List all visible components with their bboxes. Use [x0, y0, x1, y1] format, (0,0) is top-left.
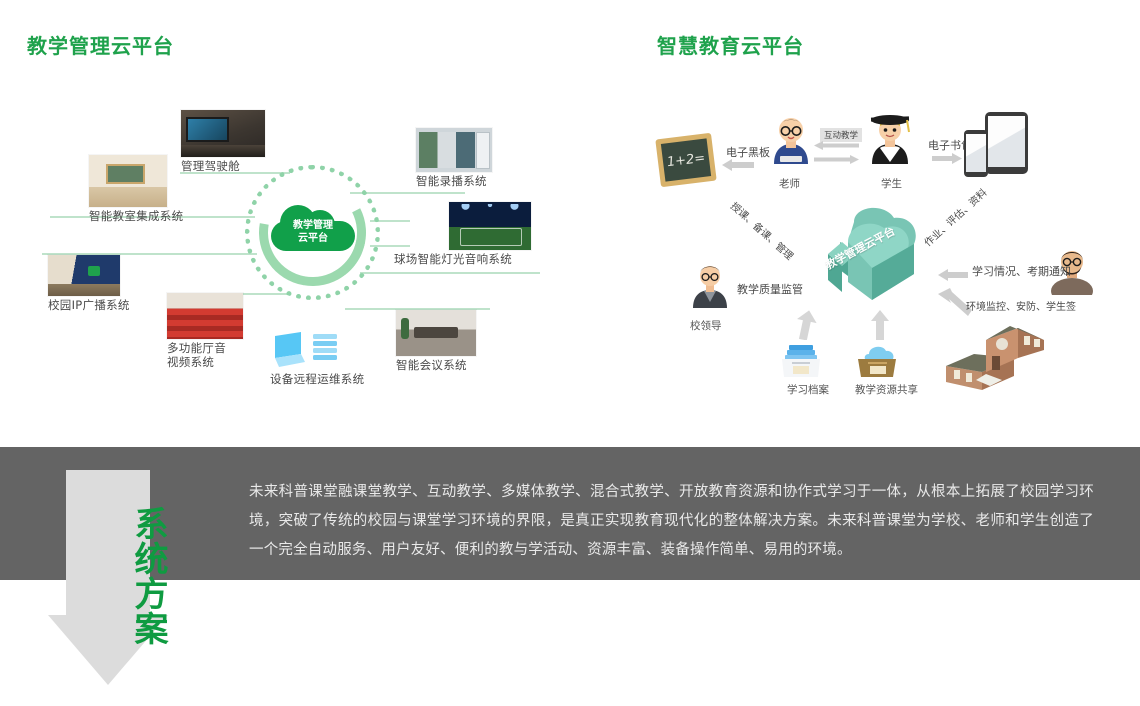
node-label-meeting: 智能会议系统 [396, 358, 476, 372]
smart-classroom-photo [89, 155, 167, 207]
teaching-resource-share-icon [855, 342, 899, 382]
stadium-lighting-photo [449, 202, 531, 250]
flow-label-study-notice: 学习情况、考期通知 [972, 263, 1071, 279]
actor-label-student: 学生 [881, 176, 902, 191]
node-label-cockpit: 管理驾驶舱 [181, 159, 265, 173]
arrow-to-devices-icon [932, 152, 962, 165]
teacher-avatar [768, 112, 814, 164]
student-avatar [866, 108, 914, 164]
node-stadium-lighting[interactable]: 球场智能灯光音响系统 [449, 202, 531, 266]
node-label-remote: 设备远程运维系统 [270, 372, 364, 386]
arrow-to-blackboard-icon [722, 158, 754, 172]
electronic-blackboard-icon: 1+2= [655, 133, 716, 187]
node-management-cockpit[interactable]: 管理驾驶舱 [181, 110, 265, 173]
flow-label-quality: 教学质量监管 [737, 281, 803, 297]
asset-label-archive: 学习档案 [787, 382, 829, 397]
remote-maintenance-icon [271, 330, 343, 370]
flow-label-homework: 作业、评估、资料 [920, 184, 989, 249]
asset-label-resource: 教学资源共享 [855, 382, 918, 397]
summary-paragraph: 未来科普课堂融课堂教学、互动教学、多媒体教学、混合式教学、开放教育资源和协作式学… [249, 478, 1094, 565]
arrow-label: 系统方案 [48, 486, 168, 666]
actor-label-teacher: 老师 [779, 176, 800, 191]
school-building-icon [940, 310, 1050, 390]
phone-device-icon [964, 130, 988, 177]
page-title-right: 智慧教育云平台 [657, 30, 804, 59]
tablet-device-icon [985, 112, 1028, 174]
hub-label-line2: 云平台 [298, 232, 328, 246]
smart-recording-photo [416, 128, 492, 172]
hub-label-line1: 教学管理 [293, 219, 333, 233]
central-hub-teaching-cloud: 教学管理 云平台 [245, 165, 380, 300]
system-solution-arrow: 系统方案 [48, 470, 168, 685]
node-smart-recording[interactable]: 智能录播系统 [416, 128, 492, 188]
multifunction-hall-photo [167, 293, 243, 339]
arrow-archive-up-icon [795, 310, 817, 340]
hub-cloud-shape: 教学管理 云平台 [271, 205, 355, 251]
learning-archive-icon [780, 342, 822, 382]
smart-meeting-photo [396, 310, 476, 356]
flow-label-teach-manage: 授课、备课、管理 [728, 198, 797, 263]
arrow-student-to-teacher-icon [814, 140, 859, 151]
node-label-recording: 智能录播系统 [416, 174, 492, 188]
node-remote-maintenance[interactable]: 设备远程运维系统 [271, 330, 364, 386]
connector-stadium-c [360, 272, 540, 274]
node-label-stadium: 球场智能灯光音响系统 [394, 252, 531, 266]
page-title-left: 教学管理云平台 [27, 30, 174, 59]
arrow-teacher-to-student-icon [814, 154, 859, 165]
node-label-classroom: 智能教室集成系统 [89, 209, 183, 223]
arrow-study-status-icon [938, 268, 968, 282]
cloud-platform-3d-icon: 教学管理云平台 [812, 196, 930, 314]
node-campus-broadcast[interactable]: 校园IP广播系统 [48, 255, 130, 312]
management-cockpit-photo [181, 110, 265, 157]
node-label-broadcast: 校园IP广播系统 [48, 298, 130, 312]
node-smart-classroom[interactable]: 智能教室集成系统 [89, 155, 183, 223]
hub-label: 教学管理 云平台 [271, 205, 355, 251]
leader-avatar [690, 260, 730, 308]
arrow-resource-up-icon [870, 310, 890, 340]
campus-broadcast-photo [48, 255, 120, 296]
node-multifunction-hall[interactable]: 多功能厅音 视频系统 [167, 293, 243, 370]
actor-label-leader: 校领导 [690, 318, 722, 333]
node-label-hall: 多功能厅音 视频系统 [167, 341, 243, 370]
node-smart-meeting[interactable]: 智能会议系统 [396, 310, 476, 372]
